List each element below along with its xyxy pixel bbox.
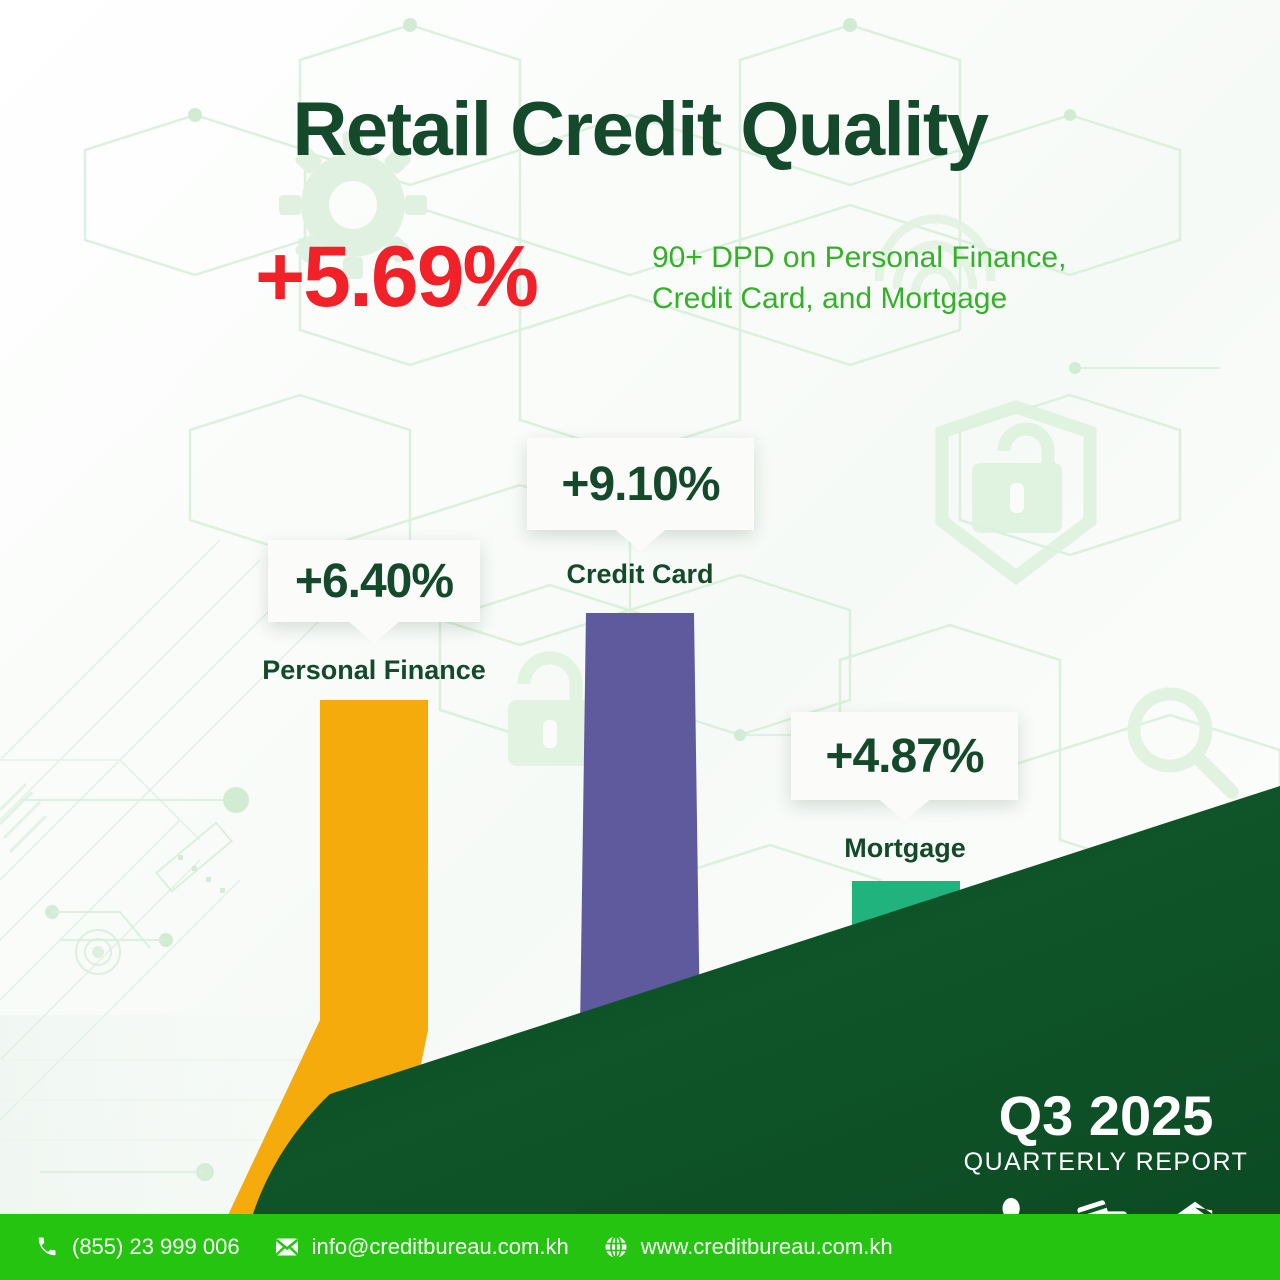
- report-label: QUARTERLY REPORT: [956, 1148, 1256, 1177]
- globe-icon: [603, 1234, 629, 1260]
- envelope-icon: [274, 1234, 300, 1260]
- footer-email-text: info@creditbureau.com.kh: [312, 1234, 569, 1260]
- footer-website-text: www.creditbureau.com.kh: [641, 1234, 893, 1260]
- footer-website[interactable]: www.creditbureau.com.kh: [603, 1234, 893, 1260]
- footer-email[interactable]: info@creditbureau.com.kh: [274, 1234, 569, 1260]
- contact-footer: (855) 23 999 006 info@creditbureau.com.k…: [0, 1214, 1280, 1280]
- footer-phone-text: (855) 23 999 006: [72, 1234, 240, 1260]
- phone-icon: [34, 1234, 60, 1260]
- infographic-canvas: Retail Credit Quality +5.69% 90+ DPD on …: [0, 0, 1280, 1280]
- footer-phone[interactable]: (855) 23 999 006: [34, 1234, 240, 1260]
- quarter-label: Q3 2025: [956, 1083, 1256, 1148]
